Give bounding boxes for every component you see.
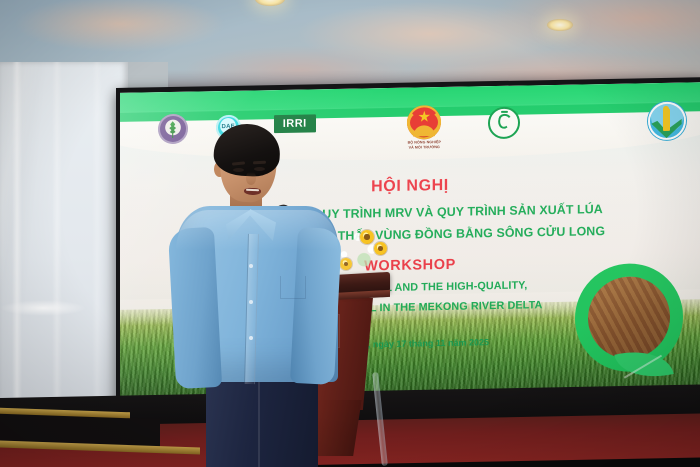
ceiling-downlight bbox=[547, 19, 573, 31]
speaker-right-arm bbox=[290, 227, 342, 385]
speaker-nose bbox=[246, 172, 256, 185]
shirt-button bbox=[249, 336, 253, 340]
conference-photo-scene: DAE IRRI BỘ NÔNG NGHIỆP VÀ MÔI TRƯỜNG bbox=[0, 0, 700, 467]
speaker-hair bbox=[213, 122, 282, 177]
curtain-fold bbox=[92, 62, 102, 412]
shirt-button bbox=[249, 264, 253, 268]
shirt-pocket bbox=[280, 276, 306, 299]
flower-bloom bbox=[360, 230, 374, 244]
flower-bloom bbox=[374, 242, 387, 255]
speaker-trousers bbox=[206, 374, 318, 467]
shirt-button bbox=[249, 300, 253, 304]
speaker-mouth bbox=[244, 188, 261, 196]
curtain-fold bbox=[52, 62, 62, 412]
ceiling-downlight bbox=[255, 0, 285, 6]
curtain-fold bbox=[12, 62, 22, 412]
speaker-eye bbox=[233, 168, 244, 172]
left-curtain-panel bbox=[0, 62, 128, 412]
speaker-left-arm bbox=[168, 227, 222, 389]
curtain-highlight bbox=[0, 300, 86, 316]
flower-bloom bbox=[340, 258, 352, 270]
speaker-eye bbox=[254, 167, 265, 171]
trouser-crease bbox=[258, 380, 260, 467]
